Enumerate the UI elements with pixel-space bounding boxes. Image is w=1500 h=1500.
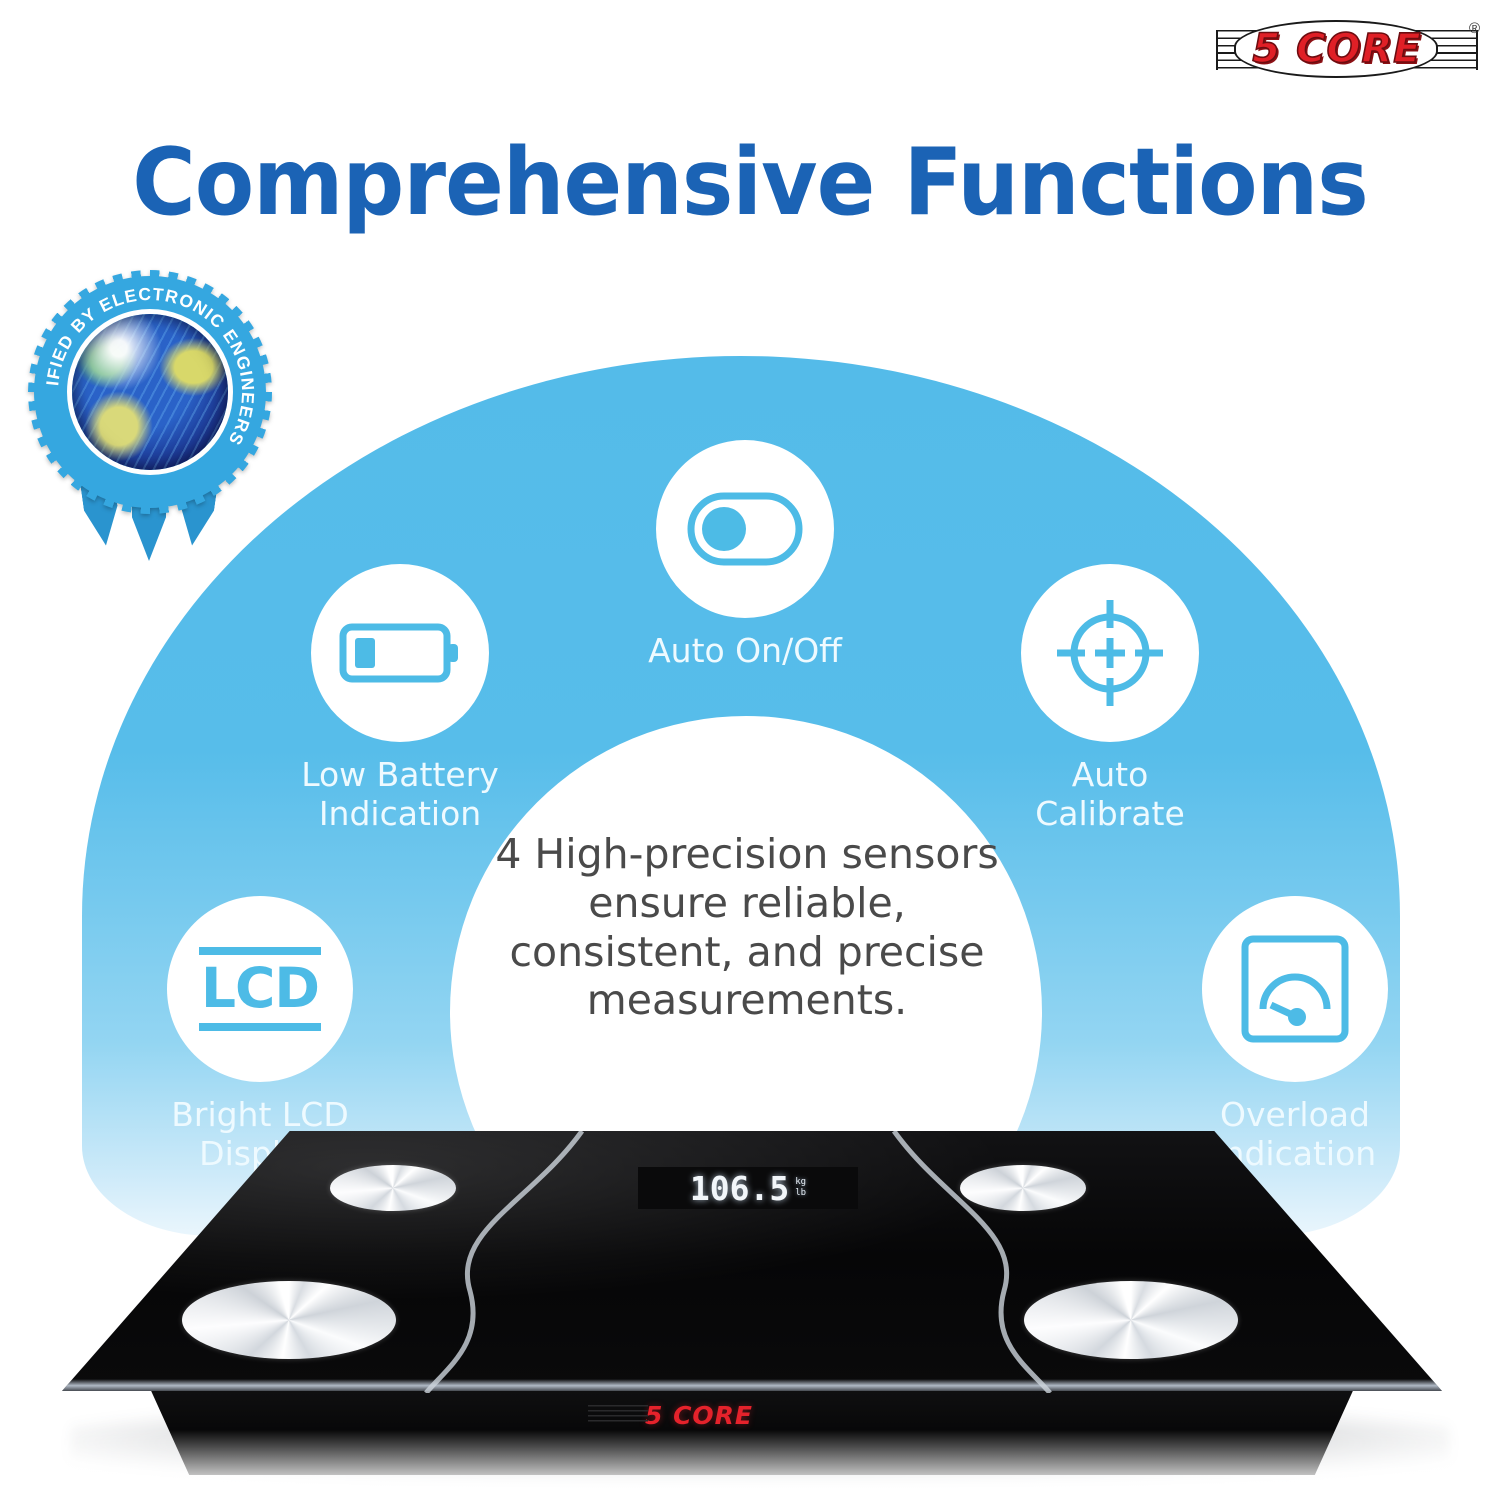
feature-label: Auto On/Off <box>580 632 910 671</box>
lcd-bar-bottom <box>199 1023 321 1031</box>
gauge-meter-icon <box>1239 933 1351 1045</box>
scale-curve-left <box>412 1131 642 1393</box>
feature-low-battery[interactable]: Low Battery Indication <box>235 564 565 833</box>
lcd-bar-top <box>199 947 321 955</box>
feature-label: Auto Calibrate <box>985 756 1235 833</box>
lcd-unit-indicators: kg lb <box>795 1178 806 1198</box>
lcd-unit-lb: lb <box>795 1189 806 1198</box>
crosshair-target-icon <box>1051 594 1169 712</box>
registered-trademark-icon: ® <box>1469 20 1480 37</box>
scale-brand-stripes <box>588 1405 648 1424</box>
brand-logo: 5 CORE ® <box>1210 18 1482 80</box>
product-photo: 106.5 kg lb 5 CORE <box>0 1105 1500 1500</box>
scale-curve-right <box>832 1131 1062 1393</box>
toggle-switch-icon <box>686 491 804 567</box>
scale-surface-brand: 5 CORE <box>582 1399 816 1431</box>
logo-wordmark: 5 CORE <box>1240 23 1434 75</box>
badge-text: CERTIFIED BY ELECTRONIC ENGINEERS <box>34 276 258 449</box>
feature-icon-bubble <box>1202 896 1388 1082</box>
feature-icon-bubble <box>656 440 834 618</box>
feature-icon-bubble: LCD <box>167 896 353 1082</box>
page-title: Comprehensive Functions <box>53 128 1448 236</box>
center-statement: 4 High-precision sensors ensure reliable… <box>492 830 1002 1025</box>
badge-text-ring: CERTIFIED BY ELECTRONIC ENGINEERS <box>34 276 266 508</box>
feature-icon-bubble <box>311 564 489 742</box>
lcd-unit-kg: kg <box>795 1178 806 1187</box>
lcd-icon: LCD <box>199 947 321 1030</box>
feature-icon-bubble <box>1021 564 1199 742</box>
feature-auto-on-off[interactable]: Auto On/Off <box>580 440 910 671</box>
electrode-pad-bottom-left <box>182 1281 396 1359</box>
lcd-weight-value: 106.5 <box>690 1169 789 1208</box>
lcd-icon-text: LCD <box>199 960 321 1017</box>
bathroom-scale: 106.5 kg lb 5 CORE <box>62 1131 1442 1461</box>
feature-auto-calibrate[interactable]: Auto Calibrate <box>985 564 1235 833</box>
scale-brand-text: 5 CORE <box>645 1401 753 1430</box>
svg-text:CERTIFIED BY ELECTRONIC ENGINE: CERTIFIED BY ELECTRONIC ENGINEERS <box>34 276 258 449</box>
certification-badge: CERTIFIED BY ELECTRONIC ENGINEERS <box>26 268 274 568</box>
feature-label: Low Battery Indication <box>235 756 565 833</box>
battery-low-icon <box>338 617 462 689</box>
scale-lcd-display: 106.5 kg lb <box>638 1167 858 1209</box>
